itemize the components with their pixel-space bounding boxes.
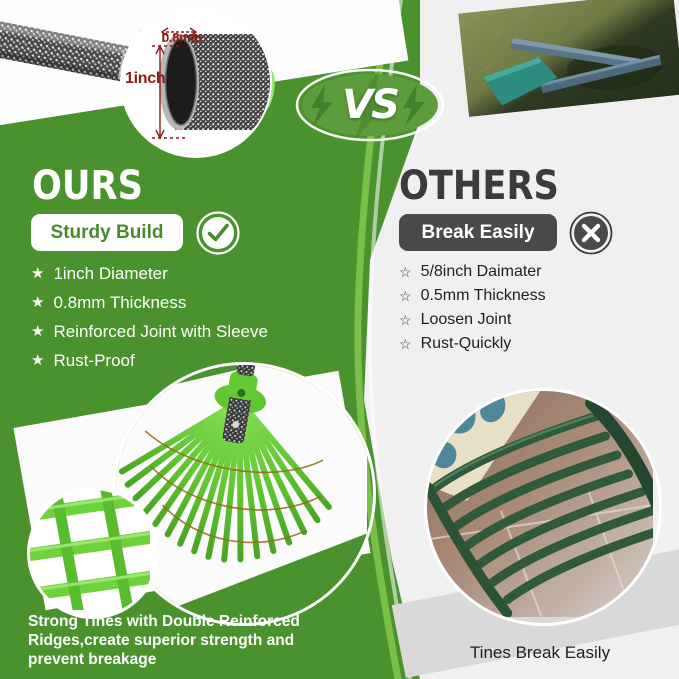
others-feature-label: 5/8inch Daimater: [421, 261, 542, 283]
comparison-infographic: 0.8mm 1inch VS: [0, 0, 679, 679]
ours-rake-photo: [112, 362, 376, 626]
list-item: ☆ Loosen Joint: [399, 309, 669, 331]
list-item: ★ Rust-Proof: [31, 348, 341, 373]
star-outline-icon: ☆: [399, 337, 412, 351]
others-caption: Tines Break Easily: [404, 643, 676, 663]
others-status-pill: Break Easily: [399, 214, 557, 251]
tube-cross-section-callout: 0.8mm 1inch: [122, 8, 270, 156]
list-item: ☆ 0.5mm Thickness: [399, 285, 669, 307]
vs-label: VS: [295, 68, 445, 142]
ours-feature-label: 0.8mm Thickness: [53, 290, 186, 315]
vs-badge: VS: [295, 68, 445, 142]
others-heading: OTHERS: [399, 163, 559, 209]
ours-feature-label: Rust-Proof: [53, 348, 134, 373]
ours-feature-list: ★ 1inch Diameter ★ 0.8mm Thickness ★ Rei…: [31, 261, 341, 377]
others-pill-label: Break Easily: [421, 222, 534, 244]
star-filled-icon: ★: [31, 353, 44, 368]
star-outline-icon: ☆: [399, 265, 412, 279]
others-feature-label: Loosen Joint: [421, 309, 512, 331]
ridges-detail-inset: [27, 487, 159, 619]
ours-status-pill: Sturdy Build: [31, 214, 183, 251]
star-outline-icon: ☆: [399, 289, 412, 303]
ours-pill-label: Sturdy Build: [51, 222, 164, 244]
x-circle-icon: [569, 211, 613, 255]
list-item: ★ 0.8mm Thickness: [31, 290, 341, 315]
others-feature-label: Rust-Quickly: [421, 333, 512, 355]
list-item: ★ 1inch Diameter: [31, 261, 341, 286]
star-filled-icon: ★: [31, 295, 44, 310]
ours-feature-label: 1inch Diameter: [53, 261, 167, 286]
list-item: ☆ 5/8inch Daimater: [399, 261, 669, 283]
check-circle-icon: [196, 211, 240, 255]
star-filled-icon: ★: [31, 324, 44, 339]
thickness-label: 0.8mm: [162, 30, 202, 45]
diameter-label: 1inch: [125, 70, 165, 88]
ours-caption: Strong Tines with Double Reinforced Ridg…: [28, 612, 340, 669]
list-item: ★ Reinforced Joint with Sleeve: [31, 319, 341, 344]
star-outline-icon: ☆: [399, 313, 412, 327]
ours-heading: OURS: [32, 163, 143, 209]
ours-feature-label: Reinforced Joint with Sleeve: [53, 319, 268, 344]
others-feature-label: 0.5mm Thickness: [421, 285, 546, 307]
others-broken-tines-photo: [424, 388, 662, 626]
list-item: ☆ Rust-Quickly: [399, 333, 669, 355]
others-feature-list: ☆ 5/8inch Daimater ☆ 0.5mm Thickness ☆ L…: [399, 261, 669, 357]
star-filled-icon: ★: [31, 266, 44, 281]
